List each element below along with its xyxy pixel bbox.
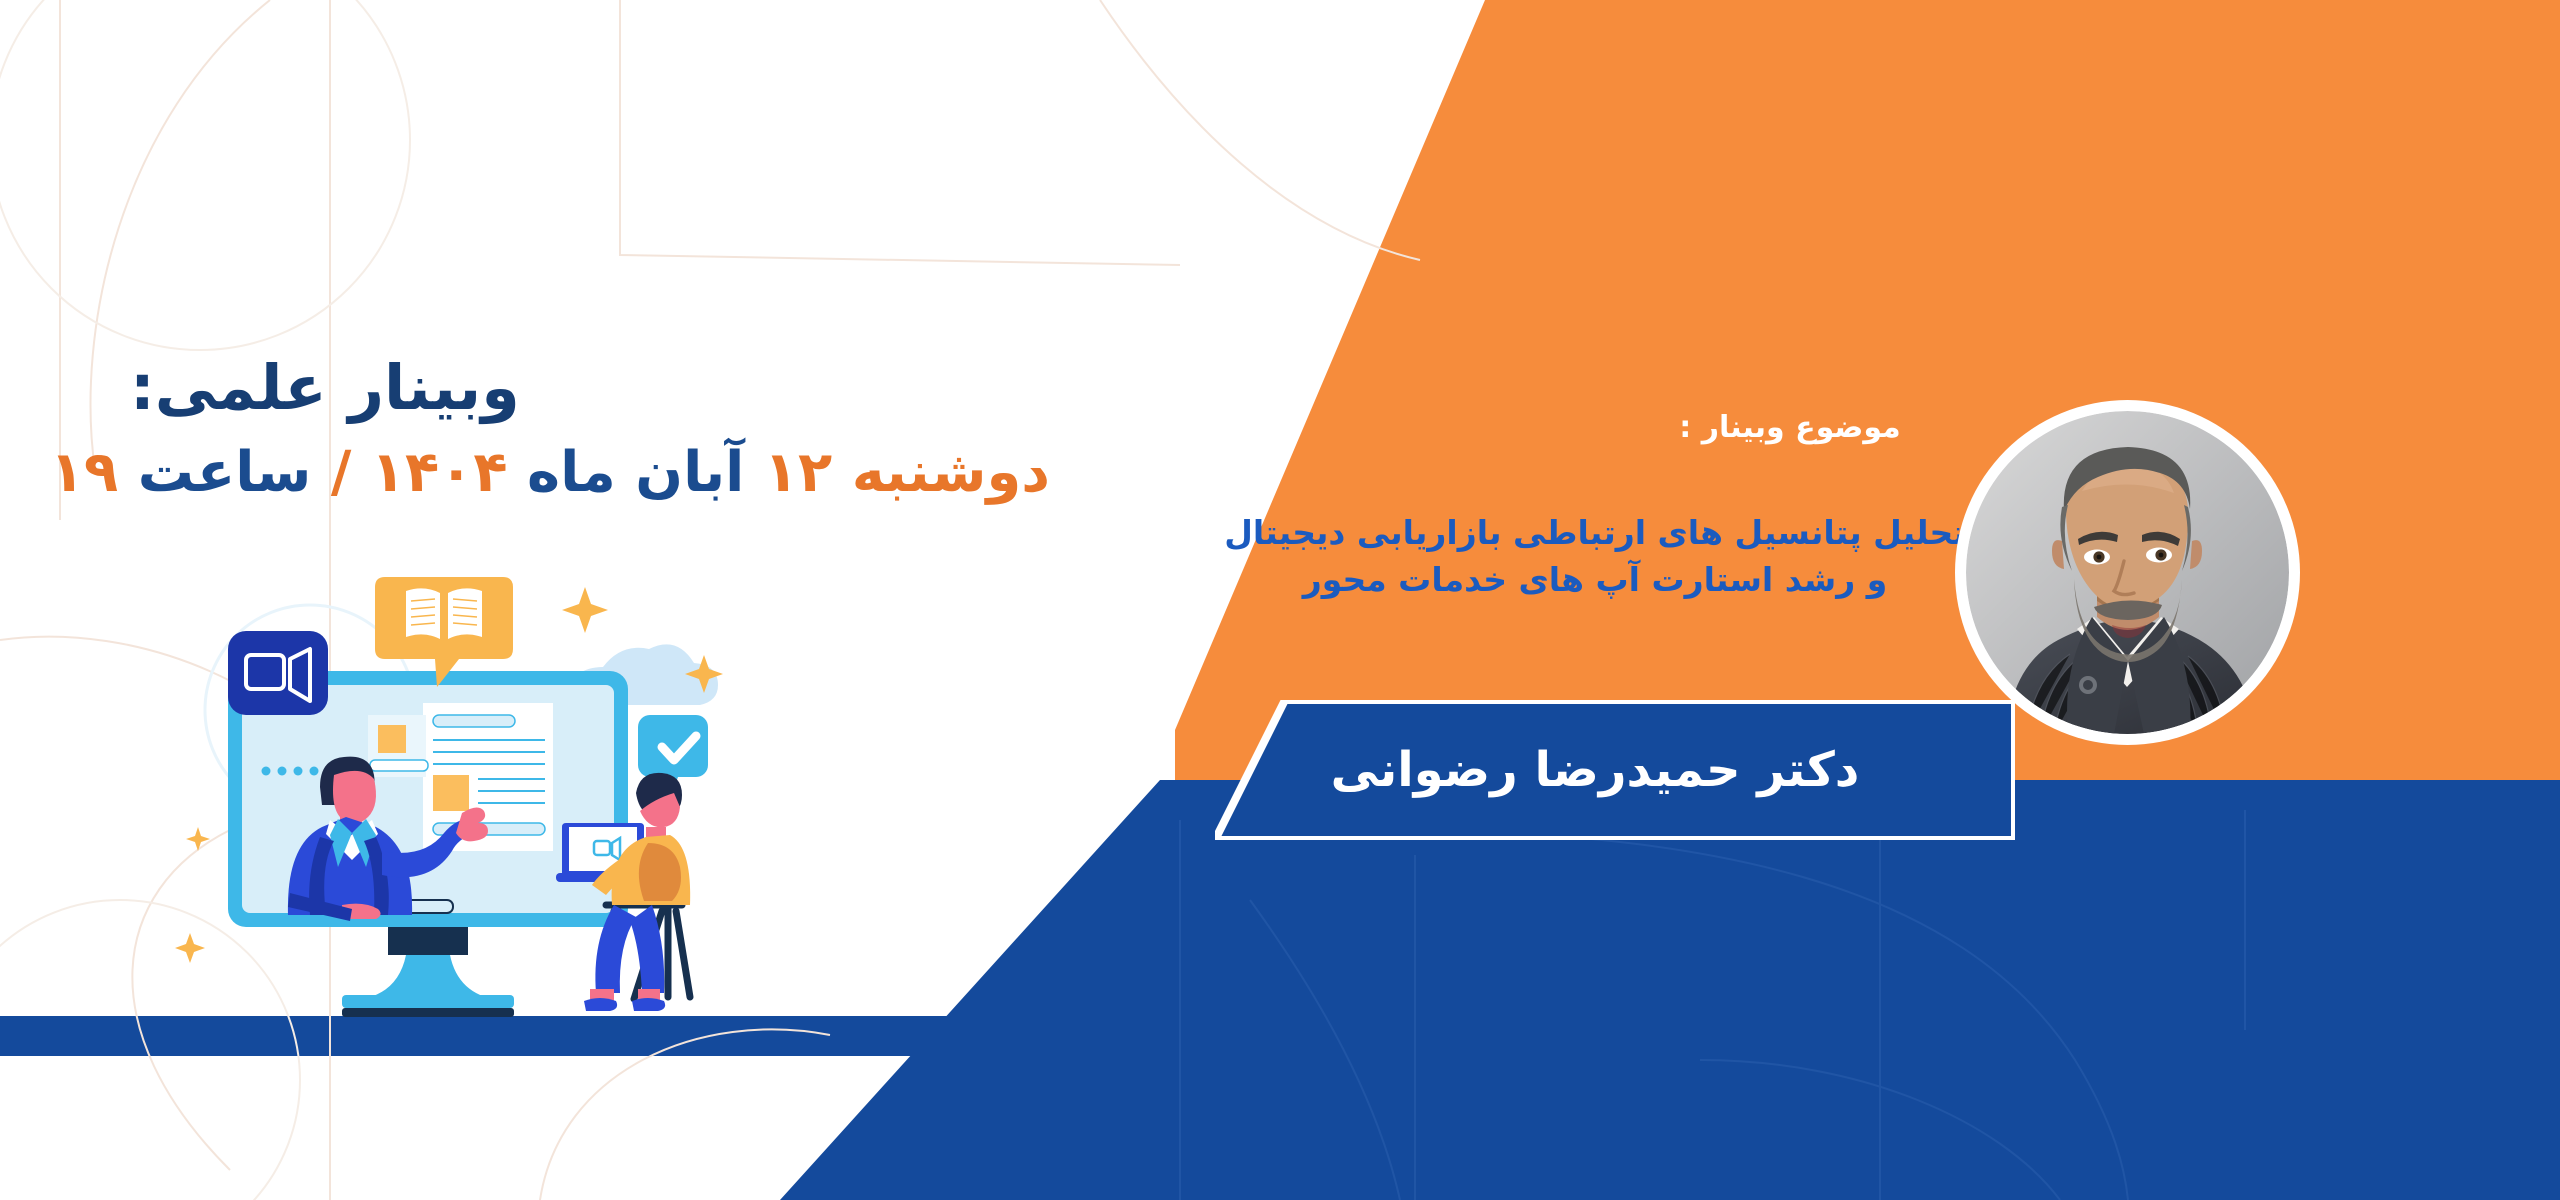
date-weekday: دوشنبه — [852, 440, 1050, 505]
time-value: ۱۹ — [50, 440, 118, 505]
date-year: ۱۴۰۴ — [371, 440, 508, 505]
webinar-kicker: وبینار علمی: — [130, 355, 1050, 420]
speaker-name: دکتر حمیدرضا رضوانی — [1215, 700, 2015, 840]
speaker-ribbon: دکتر حمیدرضا رضوانی — [1215, 700, 2015, 840]
video-camera-icon — [228, 631, 328, 715]
document-card — [423, 703, 553, 851]
webinar-banner: وبینار علمی: دوشنبه ۱۲ آبان ماه ۱۴۰۴ / س… — [0, 0, 2560, 1200]
date-month: آبان ماه — [527, 440, 744, 505]
webinar-date-line: دوشنبه ۱۲ آبان ماه ۱۴۰۴ / ساعت ۱۹ — [130, 442, 1050, 504]
book-speech-bubble — [375, 577, 513, 687]
online-webinar-illustration — [170, 575, 730, 1035]
small-card — [368, 715, 428, 777]
topic-line-2: و رشد استارت آپ های خدمات محور — [1180, 557, 2010, 604]
portrait-image — [1966, 411, 2289, 734]
left-text-block: وبینار علمی: دوشنبه ۱۲ آبان ماه ۱۴۰۴ / س… — [130, 355, 1050, 504]
topic-line-1: تحلیل پتانسیل های ارتباطی بازاریابی دیجی… — [1180, 510, 2010, 557]
time-label: ساعت — [138, 440, 312, 505]
speaker-portrait — [1955, 400, 2300, 745]
topic-lines: تحلیل پتانسیل های ارتباطی بازاریابی دیجی… — [1180, 510, 2010, 604]
topic-label: موضوع وبینار : — [1580, 410, 2000, 445]
date-day: ۱۲ — [764, 440, 832, 505]
date-separator: / — [331, 440, 351, 505]
